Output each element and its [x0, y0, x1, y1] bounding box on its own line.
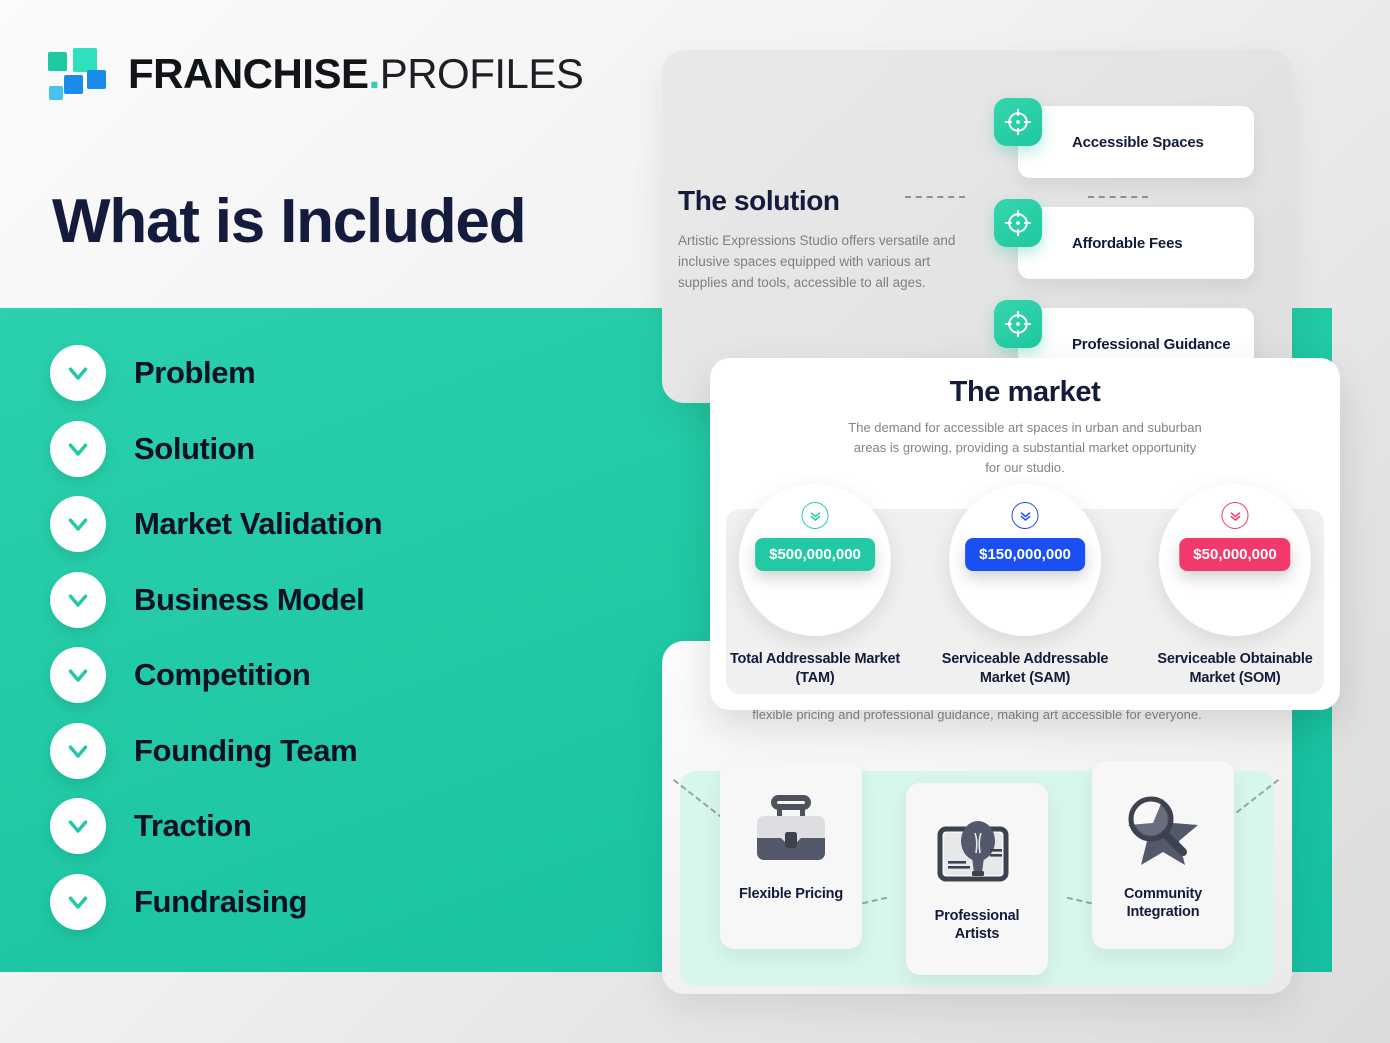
- market-description: The demand for accessible art spaces in …: [845, 418, 1205, 477]
- benefit-card-community-integration[interactable]: Community Integration: [1092, 761, 1234, 949]
- double-chevron-down-icon: [802, 502, 829, 529]
- list-item-label: Problem: [134, 355, 255, 391]
- segment-connector-dashed: [1088, 196, 1148, 198]
- brand-logo[interactable]: FRANCHISE.PROFILES: [48, 48, 583, 100]
- chevron-down-icon: [50, 798, 106, 854]
- brand-name-bold: FRANCHISE: [128, 50, 369, 97]
- chevron-down-icon: [50, 496, 106, 552]
- crosshair-target-icon: [994, 300, 1042, 348]
- list-item[interactable]: Business Model: [50, 572, 610, 628]
- list-item-label: Traction: [134, 808, 251, 844]
- solution-feature-list: Accessible Spaces Affordable Fees Profes…: [994, 98, 1284, 401]
- feature-label: Affordable Fees: [1072, 235, 1182, 252]
- market-segment-tam[interactable]: $500,000,000 Total Addressable Market (T…: [722, 484, 908, 687]
- feature-label: Accessible Spaces: [1072, 134, 1204, 151]
- feature-label: Professional Guidance: [1072, 336, 1230, 353]
- market-title: The market: [710, 376, 1340, 409]
- list-item[interactable]: Fundraising: [50, 874, 610, 930]
- chevron-down-icon: [50, 345, 106, 401]
- market-card: The market The demand for accessible art…: [710, 358, 1340, 710]
- list-item-label: Solution: [134, 431, 255, 467]
- crosshair-target-icon: [994, 199, 1042, 247]
- list-item[interactable]: Solution: [50, 421, 610, 477]
- market-segment-sam[interactable]: $150,000,000 Serviceable Addressable Mar…: [932, 484, 1118, 687]
- segment-bubble: $500,000,000: [739, 484, 891, 636]
- benefit-label: Community Integration: [1100, 885, 1226, 921]
- brand-name-dot: .: [369, 50, 380, 97]
- list-item[interactable]: Affordable Fees: [994, 199, 1284, 300]
- brand-name-thin: PROFILES: [380, 50, 584, 97]
- chevron-down-icon: [50, 723, 106, 779]
- chevron-down-icon: [50, 874, 106, 930]
- included-sections-list: Problem Solution Market Validation Busin…: [50, 345, 610, 949]
- benefit-card-professional-artists[interactable]: Professional Artists: [906, 783, 1048, 975]
- lightbulb-certificate-icon: [934, 805, 1020, 897]
- market-segments: $500,000,000 Total Addressable Market (T…: [710, 484, 1340, 687]
- list-item-label: Business Model: [134, 582, 364, 618]
- list-item[interactable]: Founding Team: [50, 723, 610, 779]
- market-segment-som[interactable]: $50,000,000 Serviceable Obtainable Marke…: [1142, 484, 1328, 687]
- segment-caption: Total Addressable Market (TAM): [722, 650, 908, 687]
- chevron-down-icon: [50, 647, 106, 703]
- benefit-label: Flexible Pricing: [739, 885, 843, 903]
- list-item[interactable]: Competition: [50, 647, 610, 703]
- chevron-down-icon: [50, 421, 106, 477]
- list-item[interactable]: Problem: [50, 345, 610, 401]
- benefit-card-flexible-pricing[interactable]: Flexible Pricing: [720, 761, 862, 949]
- solution-title: The solution: [678, 185, 968, 217]
- solution-header: The solution Artistic Expressions Studio…: [678, 185, 968, 294]
- brand-wordmark: FRANCHISE.PROFILES: [128, 53, 583, 95]
- double-chevron-down-icon: [1012, 502, 1039, 529]
- segment-bubble: $50,000,000: [1159, 484, 1311, 636]
- segment-caption: Serviceable Obtainable Market (SOM): [1142, 650, 1328, 687]
- segment-connector-dashed: [905, 196, 965, 198]
- briefcase-icon: [749, 783, 833, 875]
- list-item[interactable]: Accessible Spaces: [994, 98, 1284, 199]
- solution-description: Artistic Expressions Studio offers versa…: [678, 231, 968, 294]
- segment-value-badge: $150,000,000: [965, 538, 1085, 571]
- list-item[interactable]: Traction: [50, 798, 610, 854]
- feature-card[interactable]: Affordable Fees: [1018, 207, 1254, 279]
- double-chevron-down-icon: [1222, 502, 1249, 529]
- list-item-label: Founding Team: [134, 733, 357, 769]
- list-item-label: Competition: [134, 657, 310, 693]
- segment-value-badge: $50,000,000: [1179, 538, 1290, 571]
- list-item[interactable]: Market Validation: [50, 496, 610, 552]
- chevron-down-icon: [50, 572, 106, 628]
- crosshair-target-icon: [994, 98, 1042, 146]
- list-item-label: Fundraising: [134, 884, 307, 920]
- logo-squares-icon: [48, 48, 110, 100]
- segment-caption: Serviceable Addressable Market (SAM): [932, 650, 1118, 687]
- benefit-label: Professional Artists: [914, 907, 1040, 943]
- solution-panel: The solution Artistic Expressions Studio…: [662, 50, 1292, 403]
- segment-bubble: $150,000,000: [949, 484, 1101, 636]
- feature-card[interactable]: Accessible Spaces: [1018, 106, 1254, 178]
- segment-value-badge: $500,000,000: [755, 538, 875, 571]
- slide-canvas: FRANCHISE.PROFILES What is Included Prob…: [0, 0, 1390, 1043]
- list-item-label: Market Validation: [134, 506, 382, 542]
- star-magnifier-icon: [1119, 783, 1207, 875]
- page-title: What is Included: [52, 188, 525, 256]
- benefits-card-row: Flexible Pricing: [662, 755, 1292, 975]
